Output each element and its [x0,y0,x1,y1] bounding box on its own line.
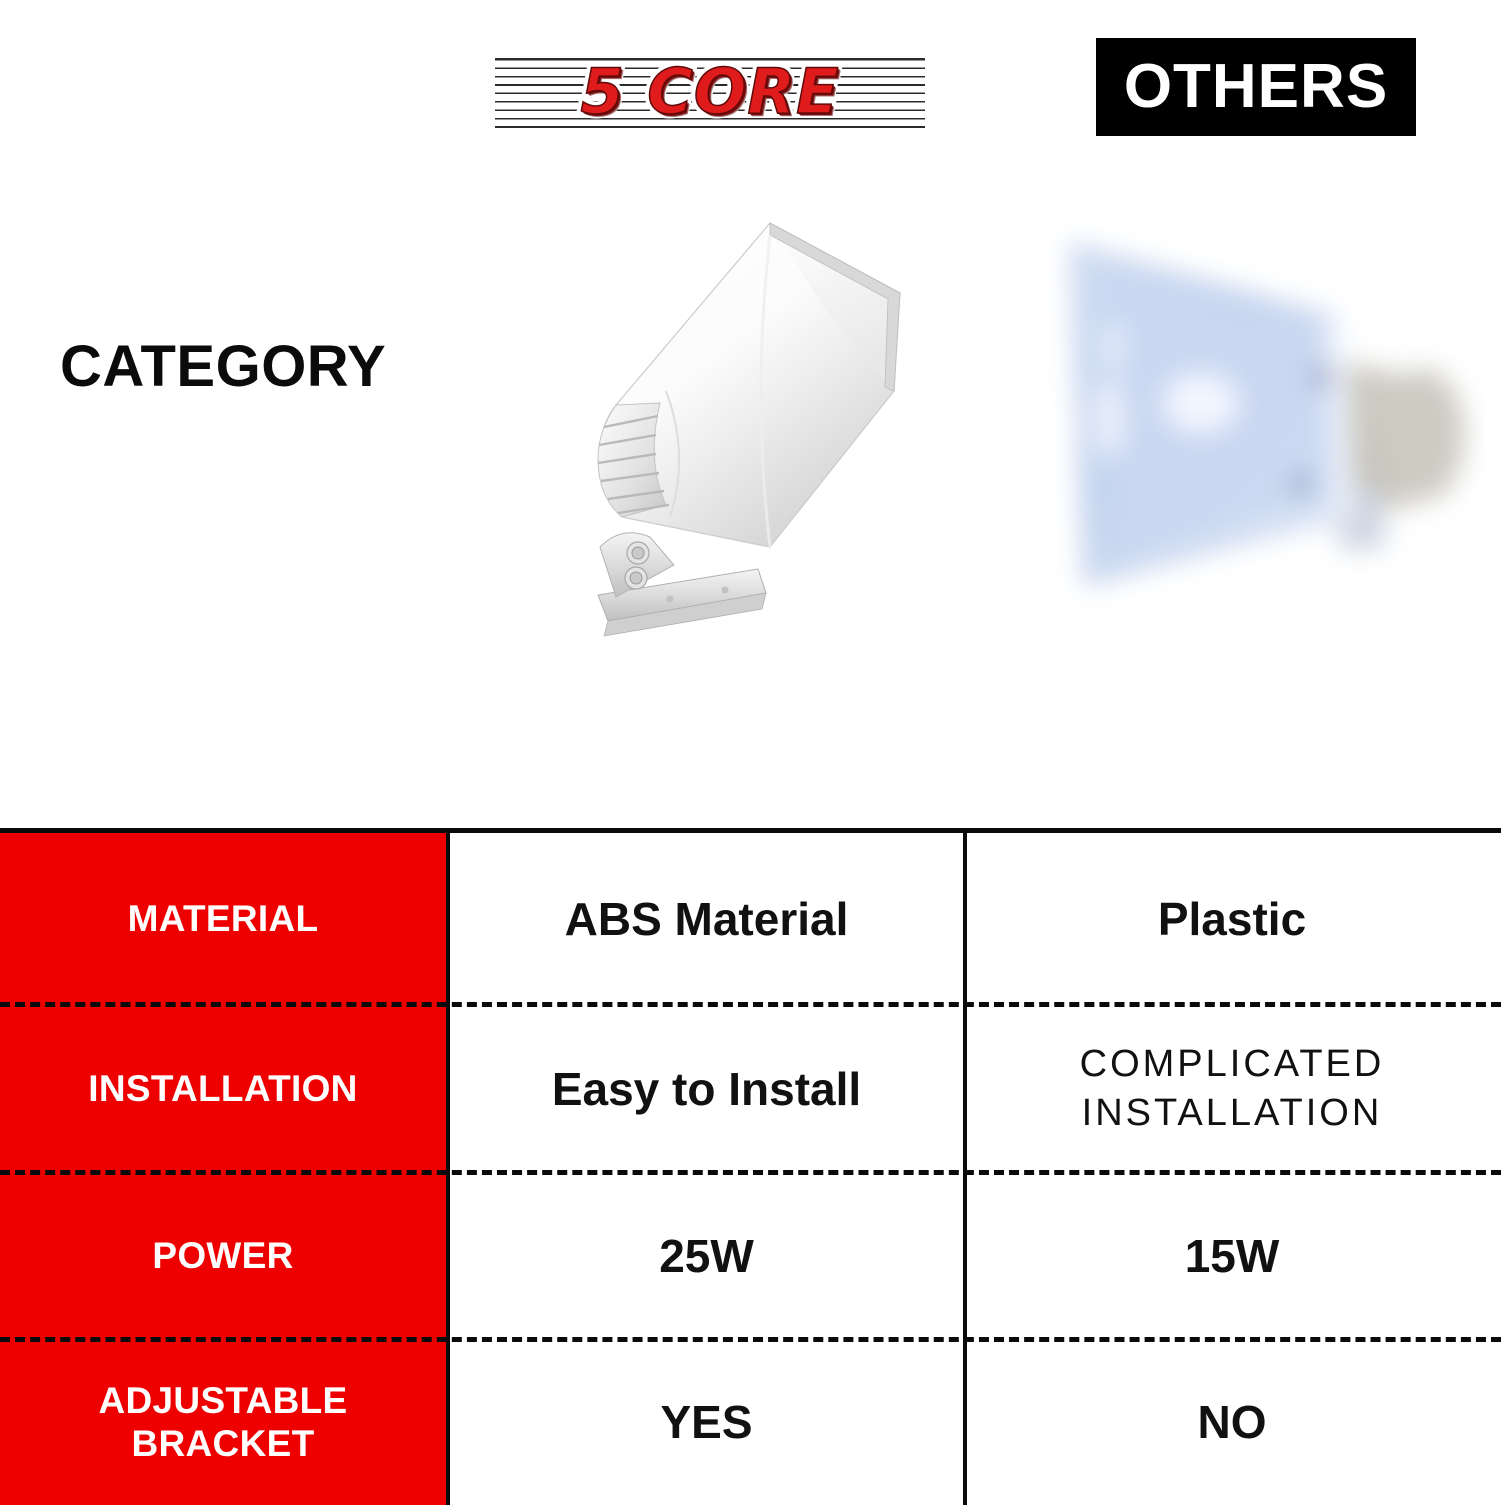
table-row: ADJUSTABLE BRACKET YES NO [0,1340,1501,1505]
row-label-material: MATERIAL [0,833,450,1005]
comparison-header: 5 CORE 5 CORE OTHERS CATEGORY [0,0,1501,828]
row-value-5core-power: 25W [450,1173,967,1340]
row-value-others-installation: COMPLICATED INSTALLATION [967,1005,1497,1173]
category-heading: CATEGORY [60,338,386,396]
row-label-power: POWER [0,1173,450,1340]
row-label-installation: INSTALLATION [0,1005,450,1173]
comparison-table: MATERIAL ABS Material Plastic INSTALLATI… [0,828,1501,1500]
row-value-5core-installation: Easy to Install [450,1005,967,1173]
row-value-others-power: 15W [967,1173,1497,1340]
brand-logo-label: 5 CORE [495,44,925,140]
brand-logo-5core: 5 CORE 5 CORE [495,44,925,140]
table-row: POWER 25W 15W [0,1173,1501,1340]
product-image-5core [470,195,940,655]
product-image-other [1005,195,1485,655]
table-row: MATERIAL ABS Material Plastic [0,833,1501,1005]
others-badge-label: OTHERS [1124,56,1388,118]
row-value-others-adjustable-bracket: NO [967,1340,1497,1505]
others-badge: OTHERS [1096,38,1416,136]
row-value-5core-adjustable-bracket: YES [450,1340,967,1505]
row-value-others-material: Plastic [967,833,1497,1005]
row-value-5core-material: ABS Material [450,833,967,1005]
table-row: INSTALLATION Easy to Install COMPLICATED… [0,1005,1501,1173]
row-label-adjustable-bracket: ADJUSTABLE BRACKET [0,1340,450,1505]
